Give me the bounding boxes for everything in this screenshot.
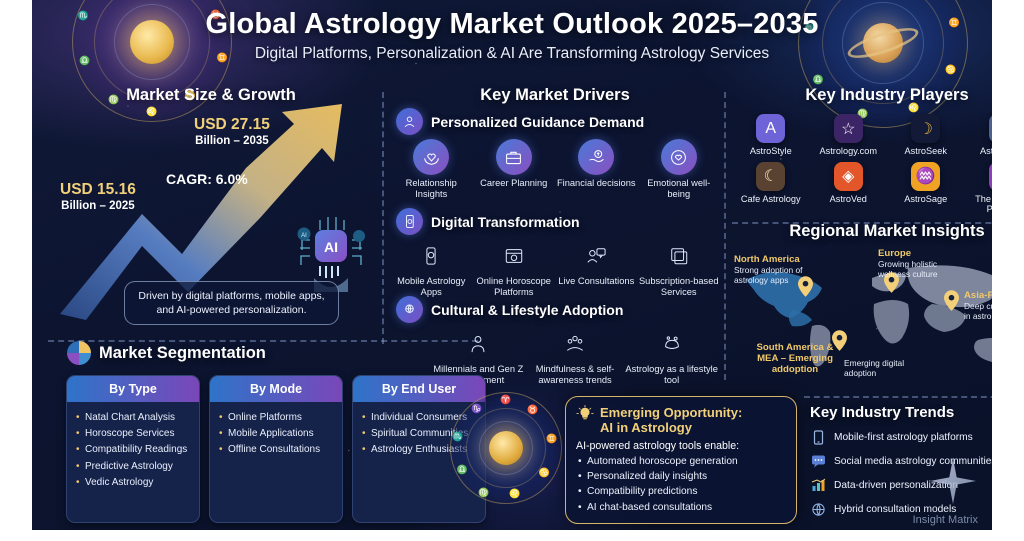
- astrology-com-icon: ☆: [834, 114, 863, 143]
- globe-hands-icon: [396, 296, 423, 323]
- region-title: Asia-Pacific: [964, 290, 992, 301]
- driver-item-label: Online Horoscope Platforms: [473, 276, 556, 298]
- emerging-opportunity-panel: Emerging Opportunity: AI in Astrology AI…: [565, 396, 797, 524]
- value-2025: USD 15.16: [60, 181, 136, 199]
- astrostyle-icon: A: [756, 114, 785, 143]
- region-note-asia-pacific: Asia-Pacific Deep cultural roots in astr…: [964, 290, 992, 322]
- guidance-icon: [396, 108, 423, 135]
- list-item: Mobile Applications: [219, 426, 333, 442]
- list-item: Horoscope Services: [76, 426, 190, 442]
- mobile-chip-icon: [396, 208, 423, 235]
- market-size-section: Market Size & Growth USD 27.15 Billion –…: [46, 86, 376, 336]
- divider-vertical-left: [382, 92, 384, 344]
- card-header: By Type: [67, 376, 199, 402]
- list-item: Spiritual Communities: [362, 426, 476, 442]
- trends-title: Key Industry Trends: [810, 404, 992, 421]
- driver-group-personalized: Personalized Guidance Demand Relationshi…: [390, 108, 720, 200]
- key-industry-players-section: Key Industry Players A AstroStyle ☆ Astr…: [732, 86, 992, 216]
- trend-item: Social media astrology communities: [810, 453, 992, 469]
- astroseek-icon: ☽: [911, 114, 940, 143]
- astromatrix-icon: ✺: [989, 114, 992, 143]
- region-title: Europe: [878, 248, 970, 259]
- phone-icon: [810, 429, 826, 445]
- page-title: Global Astrology Market Outlook 2025–203…: [32, 8, 992, 41]
- player-item[interactable]: ♒ AstroSage: [887, 162, 965, 215]
- driver-item-label: Career Planning: [473, 178, 556, 189]
- chat-person-icon: [579, 239, 613, 273]
- briefcase-icon: [496, 139, 532, 175]
- head-heart-icon: [661, 139, 697, 175]
- pie-chart-icon: [66, 340, 92, 366]
- regional-market-insights-section: Regional Market Insights: [732, 222, 992, 382]
- driver-item-label: Financial decisions: [555, 178, 638, 189]
- cafe-astrology-icon: ☾: [756, 162, 785, 191]
- player-name: AstroMatrix: [965, 146, 993, 157]
- player-item[interactable]: ☽ AstroSeek: [887, 114, 965, 157]
- player-name: AstroSage: [887, 194, 965, 205]
- region-desc: Deep cultural roots in astrology: [964, 302, 992, 322]
- region-note-south-america-mea: South America & MEA – Emerging addoption: [748, 342, 842, 375]
- segmentation-card-by-type: By Type Natal Chart Analysis Horoscope S…: [66, 375, 200, 523]
- region-note-emerging-digital: Emerging digital adoption: [844, 358, 930, 379]
- driver-item: Relationship Insights: [390, 139, 473, 200]
- driver-item: Subscription-based Services: [638, 239, 721, 298]
- driver-item-label: Emotional well-being: [638, 178, 721, 200]
- market-size-note: Driven by digital platforms, mobile apps…: [124, 281, 339, 325]
- player-name: AstroVed: [810, 194, 888, 205]
- region-desc: Growing holistic wellness culture: [878, 260, 970, 280]
- trend-label: Social media astrology communities: [834, 456, 992, 467]
- player-item[interactable]: ✺ AstroMatrix: [965, 114, 993, 157]
- driver-group-label: Personalized Guidance Demand: [431, 114, 644, 130]
- chat-bubble-icon: [810, 453, 826, 469]
- key-market-drivers-section: Key Market Drivers Personalized Guidance…: [390, 86, 720, 358]
- driver-item: Career Planning: [473, 139, 556, 200]
- regional-title: Regional Market Insights: [732, 222, 992, 241]
- list-item: Vedic Astrology: [76, 475, 190, 491]
- player-name: Astrology.com: [810, 146, 888, 157]
- astrology-podcast-icon: ◉: [989, 162, 992, 191]
- list-item: Personalized daily insights: [576, 469, 786, 484]
- lightbulb-icon: [576, 405, 594, 423]
- list-item: Compatibility Readings: [76, 442, 190, 458]
- list-item: Astrology Enthusiasts: [362, 442, 476, 458]
- bar-chart-icon: [810, 477, 826, 493]
- player-item[interactable]: A AstroStyle: [732, 114, 810, 157]
- trend-item: Mobile-first astrology platforms: [810, 429, 992, 445]
- network-icon: [810, 501, 826, 517]
- card-header: By End User: [353, 376, 485, 402]
- region-title: South America & MEA – Emerging addoption: [748, 342, 842, 375]
- list-item: Automated horoscope generation: [576, 454, 786, 469]
- player-name: Cafe Astrology: [732, 194, 810, 205]
- watermark: Insight Matrix: [913, 514, 978, 526]
- svg-text:AI: AI: [301, 233, 307, 239]
- trend-label: Mobile-first astrology platforms: [834, 432, 973, 443]
- card-header: By Mode: [210, 376, 342, 402]
- browser-icon: [497, 239, 531, 273]
- divider-vertical-right: [724, 92, 726, 380]
- region-note-north-america: North America Strong adoption of astrolo…: [734, 254, 830, 286]
- trend-label: Hybrid consultation models: [834, 504, 956, 515]
- key-industry-trends-section: Key Industry Trends Mobile-first astrolo…: [810, 404, 992, 524]
- driver-item: Online Horoscope Platforms: [473, 239, 556, 298]
- driver-item: Emotional well-being: [638, 139, 721, 200]
- value-2025-sub: Billion – 2025: [60, 200, 136, 212]
- group-hands-icon: [558, 327, 592, 361]
- driver-item-label: Astrology as a lifestyle tool: [623, 364, 720, 386]
- player-item[interactable]: ◉ The Astrology Podcast: [965, 162, 993, 215]
- world-map: North America Strong adoption of astrolo…: [732, 246, 992, 382]
- driver-group-digital: Digital Transformation Mobile Astrology …: [390, 208, 720, 298]
- hands-heart-icon: [413, 139, 449, 175]
- segmentation-card-by-mode: By Mode Online Platforms Mobile Applicat…: [209, 375, 343, 523]
- driver-group-label: Cultural & Lifestyle Adoption: [431, 302, 623, 318]
- header: Global Astrology Market Outlook 2025–203…: [32, 8, 992, 63]
- value-2035-sub: Billion – 2035: [194, 135, 270, 147]
- divider-horizontal-right: [804, 396, 992, 398]
- list-item: Predictive Astrology: [76, 459, 190, 475]
- driver-item-label: Subscription-based Services: [638, 276, 721, 298]
- driver-item: Mindfulness & self-awareness trends: [527, 327, 624, 386]
- list-item: Compatibility predictions: [576, 484, 786, 499]
- opportunity-title-line1: Emerging Opportunity:: [600, 405, 742, 420]
- region-desc: Emerging digital adoption: [844, 359, 930, 379]
- infographic-canvas: ♓♈ ♉♊ ♋♌ ♍♎ ♏♑ ♈♉ ♊♋ ♌♍ ♎♏ ♑ Global Astr…: [32, 0, 992, 530]
- cards-icon: [662, 239, 696, 273]
- brain-head-icon: [655, 327, 689, 361]
- driver-item-label: Live Consultations: [555, 276, 638, 287]
- driver-item-label: Mindfulness & self-awareness trends: [527, 364, 624, 386]
- market-value-2025: USD 15.16 Billion – 2025: [60, 181, 136, 212]
- driver-item: Live Consultations: [555, 239, 638, 298]
- driver-item: Mobile Astrology Apps: [390, 239, 473, 298]
- drivers-title: Key Market Drivers: [390, 86, 720, 105]
- region-desc: Strong adoption of astrology apps: [734, 266, 830, 286]
- market-value-2035: USD 27.15 Billion – 2035: [194, 116, 270, 147]
- player-item[interactable]: ◈ AstroVed: [810, 162, 888, 215]
- player-item[interactable]: ☆ Astrology.com: [810, 114, 888, 157]
- opportunity-subtitle: AI-powered astrology tools enable:: [576, 440, 786, 452]
- cagr-label: CAGR: 6.0%: [166, 171, 248, 187]
- list-item: AI chat-based consultations: [576, 500, 786, 515]
- driver-item: Financial decisions: [555, 139, 638, 200]
- ai-chip-label: AI: [324, 239, 338, 255]
- region-note-europe: Europe Growing holistic wellness culture: [878, 248, 970, 280]
- hand-coin-icon: [578, 139, 614, 175]
- page-subtitle: Digital Platforms, Personalization & AI …: [32, 45, 992, 63]
- segmentation-card-by-end-user: By End User Individual Consumers Spiritu…: [352, 375, 486, 523]
- opportunity-title-line2: AI in Astrology: [600, 420, 742, 435]
- player-name: The Astrology Podcast: [965, 194, 993, 215]
- market-segmentation-section: Market Segmentation By Type Natal Chart …: [66, 340, 486, 525]
- list-item: Offline Consultations: [219, 442, 333, 458]
- list-item: Natal Chart Analysis: [76, 410, 190, 426]
- map-pin-asia-pacific-icon: [944, 290, 959, 311]
- driver-item: Astrology as a lifestyle tool: [623, 327, 720, 386]
- driver-item-label: Relationship Insights: [390, 178, 473, 200]
- player-name: AstroStyle: [732, 146, 810, 157]
- astroved-icon: ◈: [834, 162, 863, 191]
- phone-icon: [414, 239, 448, 273]
- players-title: Key Industry Players: [732, 86, 992, 105]
- region-title: North America: [734, 254, 830, 265]
- value-2035: USD 27.15: [194, 116, 270, 134]
- segmentation-title: Market Segmentation: [99, 344, 266, 363]
- driver-group-label: Digital Transformation: [431, 214, 580, 230]
- player-item[interactable]: ☾ Cafe Astrology: [732, 162, 810, 215]
- list-item: Online Platforms: [219, 410, 333, 426]
- list-item: Individual Consumers: [362, 410, 476, 426]
- driver-item-label: Mobile Astrology Apps: [390, 276, 473, 298]
- astrosage-icon: ♒: [911, 162, 940, 191]
- player-name: AstroSeek: [887, 146, 965, 157]
